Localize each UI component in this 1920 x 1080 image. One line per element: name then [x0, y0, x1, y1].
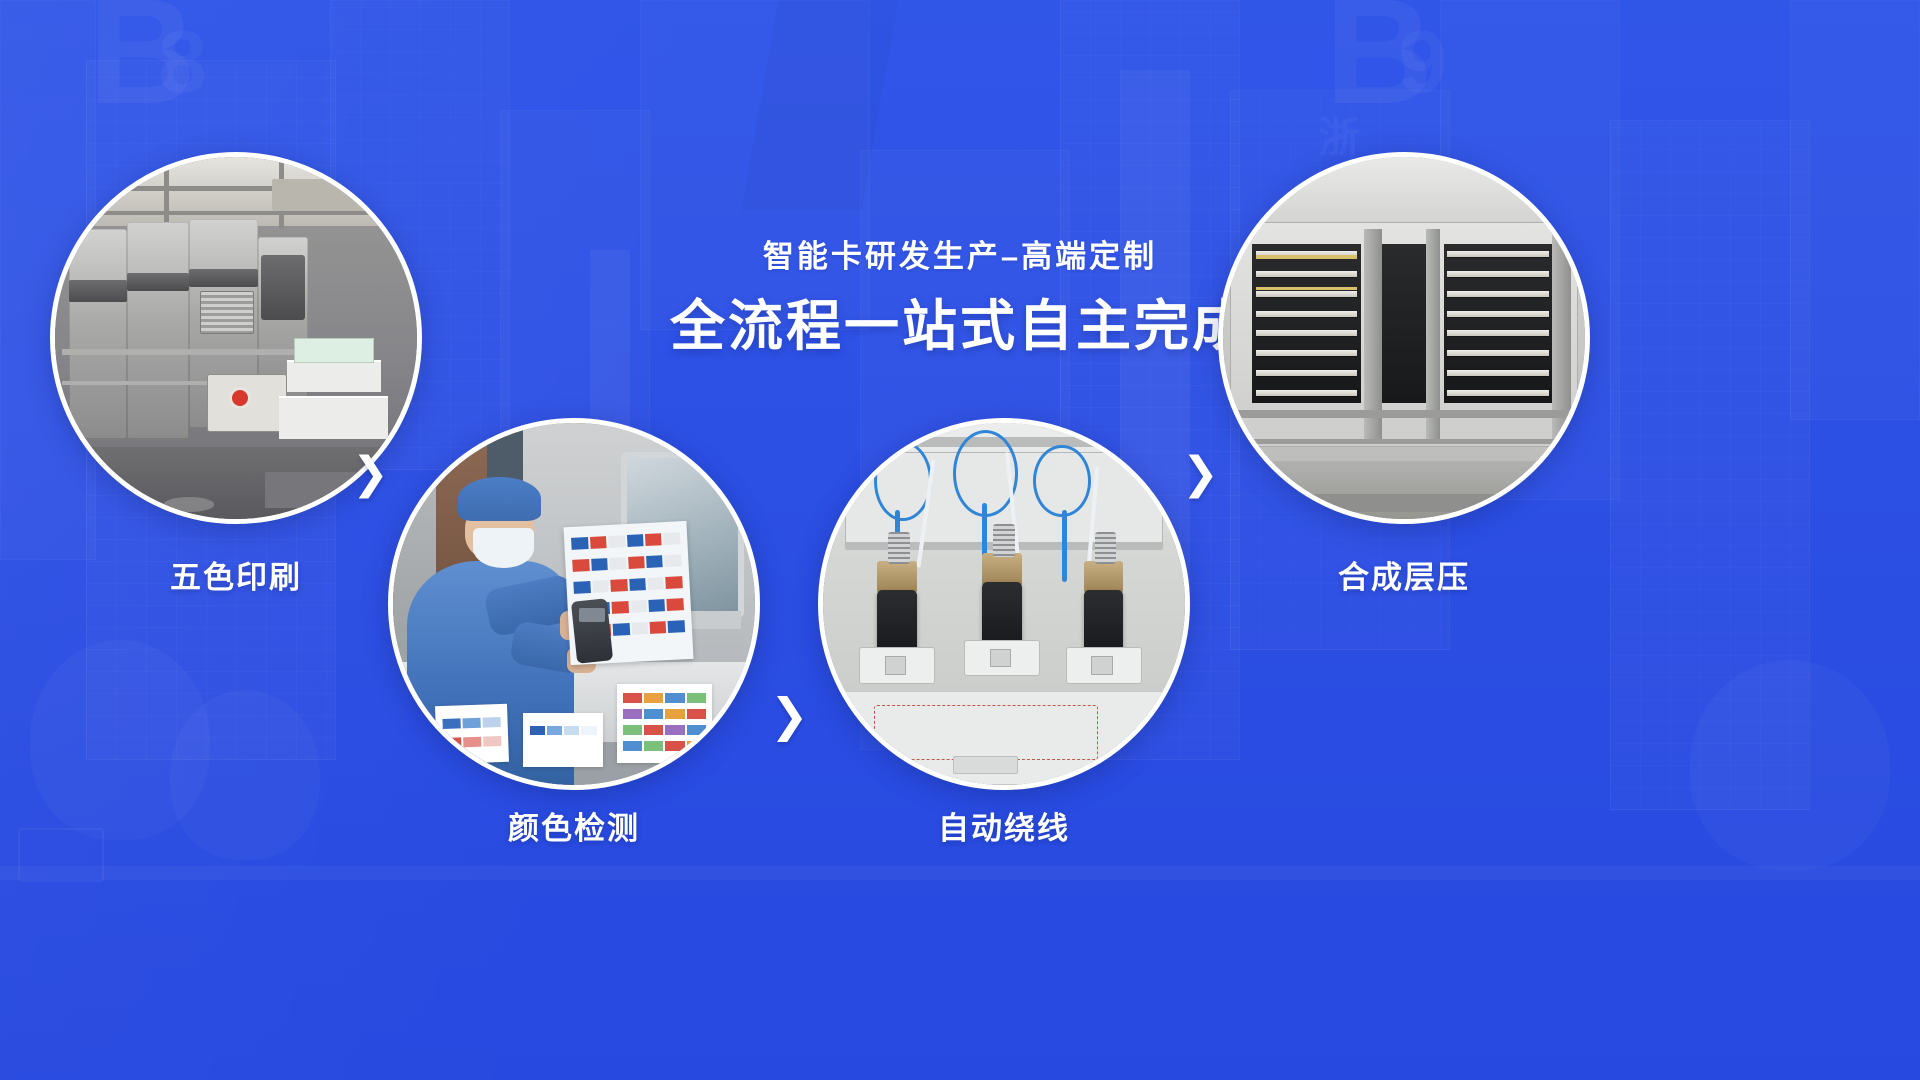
banner-stage: B 8 B 9 浙 智能卡研发生产–高端定制 全流程一站式自主完成	[0, 0, 1920, 1080]
chevron-right-icon-3: ❯	[1182, 452, 1219, 496]
process-step-2-photo	[388, 418, 760, 790]
process-step-4-caption: 合成层压	[1338, 552, 1470, 597]
process-step-2[interactable]: 颜色检测	[388, 418, 760, 790]
chevron-right-icon-1: ❯	[352, 452, 389, 496]
process-step-3[interactable]: 自动绕线	[818, 418, 1190, 790]
process-step-3-caption: 自动绕线	[938, 803, 1070, 848]
process-step-4[interactable]: 合成层压	[1218, 152, 1590, 524]
chevron-right-icon-2: ❯	[770, 692, 809, 738]
process-step-4-photo	[1218, 152, 1590, 524]
process-step-1-caption: 五色印刷	[170, 552, 302, 597]
process-step-3-photo	[818, 418, 1190, 790]
process-step-2-caption: 颜色检测	[508, 803, 640, 848]
